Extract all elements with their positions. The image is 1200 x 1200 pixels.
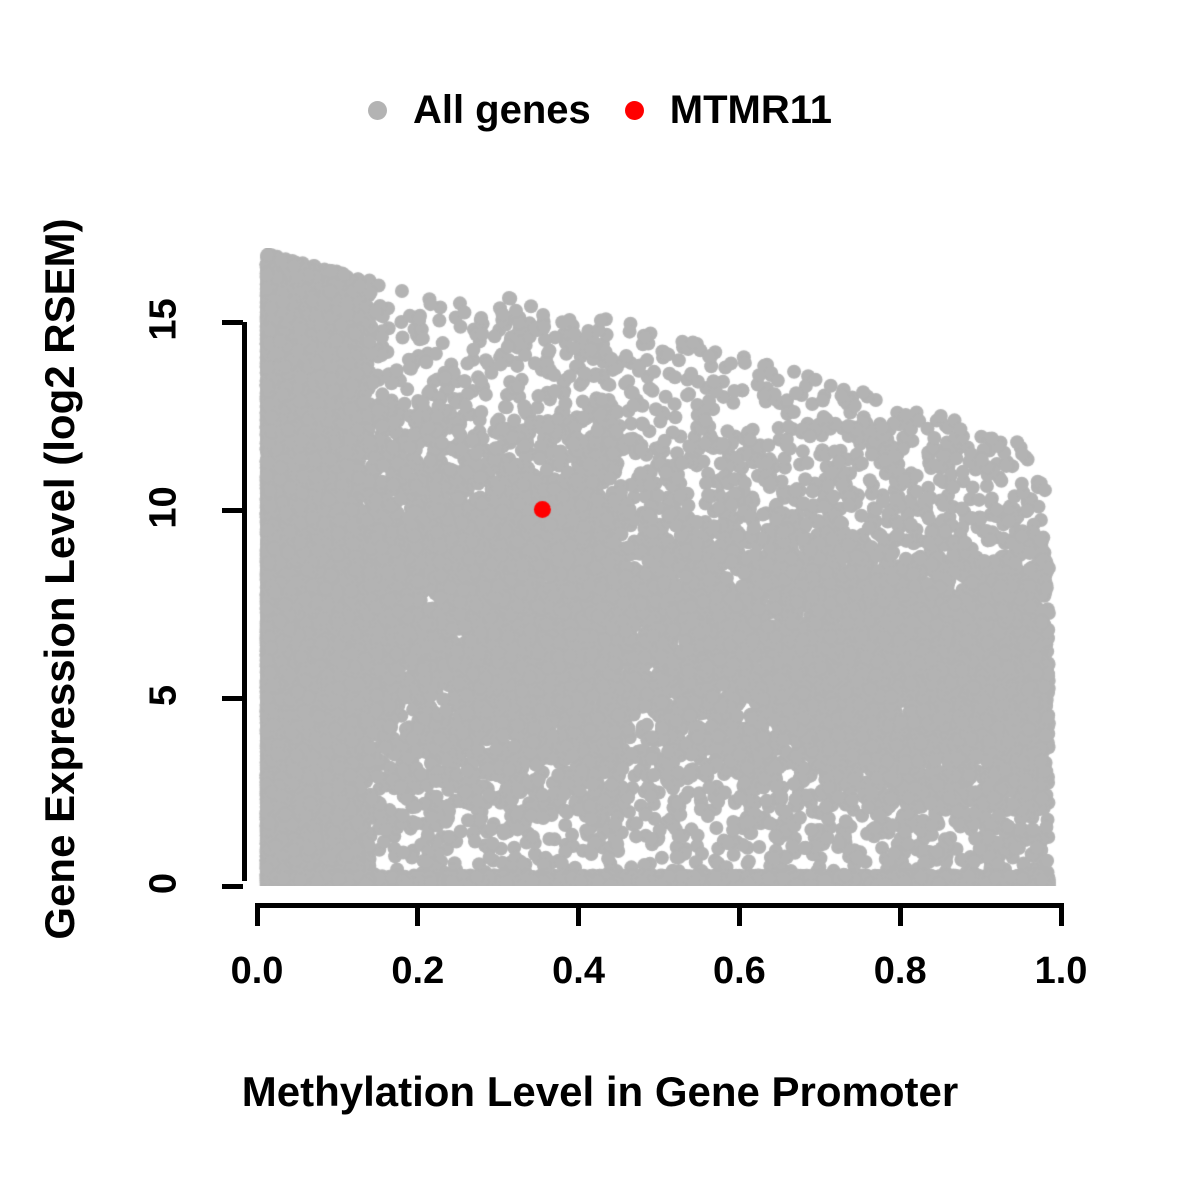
- x-tick-1.0: [1059, 903, 1064, 926]
- legend-item-all-genes: All genes: [368, 88, 591, 133]
- legend-marker-all-genes-icon: [368, 101, 387, 120]
- y-tick-0: [222, 884, 243, 889]
- x-tick-0.6: [737, 903, 742, 926]
- legend-marker-mtmr11-icon: [625, 101, 644, 120]
- legend-label-mtmr11: MTMR11: [670, 88, 832, 133]
- y-tick-label-15: 15: [143, 280, 186, 360]
- y-tick-15: [222, 320, 243, 325]
- x-tick-0.8: [898, 903, 903, 926]
- scatter-plot-figure: All genes MTMR11 051015 0.00.20.40.60.81…: [0, 0, 1200, 1200]
- y-tick-10: [222, 508, 243, 513]
- legend-item-mtmr11: MTMR11: [625, 88, 832, 133]
- x-tick-label-0.4: 0.4: [519, 950, 639, 993]
- y-tick-label-10: 10: [143, 468, 186, 548]
- x-tick-0.4: [576, 903, 581, 926]
- x-tick-label-0.0: 0.0: [197, 950, 317, 993]
- chart-legend: All genes MTMR11: [0, 78, 1200, 142]
- x-tick-0.2: [415, 903, 420, 926]
- x-axis-line: [257, 903, 1062, 908]
- x-tick-label-0.8: 0.8: [840, 950, 960, 993]
- plot-area: [257, 248, 1061, 886]
- y-tick-5: [222, 696, 243, 701]
- legend-label-all-genes: All genes: [413, 88, 591, 133]
- y-tick-label-5: 5: [143, 656, 186, 736]
- x-tick-0.0: [255, 903, 260, 926]
- x-tick-label-0.2: 0.2: [358, 950, 478, 993]
- y-tick-label-0: 0: [143, 844, 186, 924]
- x-axis-title: Methylation Level in Gene Promoter: [0, 1068, 1200, 1116]
- y-axis-line: [242, 322, 247, 881]
- scatter-canvas: [257, 248, 1061, 886]
- x-tick-label-1.0: 1.0: [1001, 950, 1121, 993]
- x-tick-label-0.6: 0.6: [679, 950, 799, 993]
- y-axis-title: Gene Expression Level (log2 RSEM): [36, 139, 84, 1019]
